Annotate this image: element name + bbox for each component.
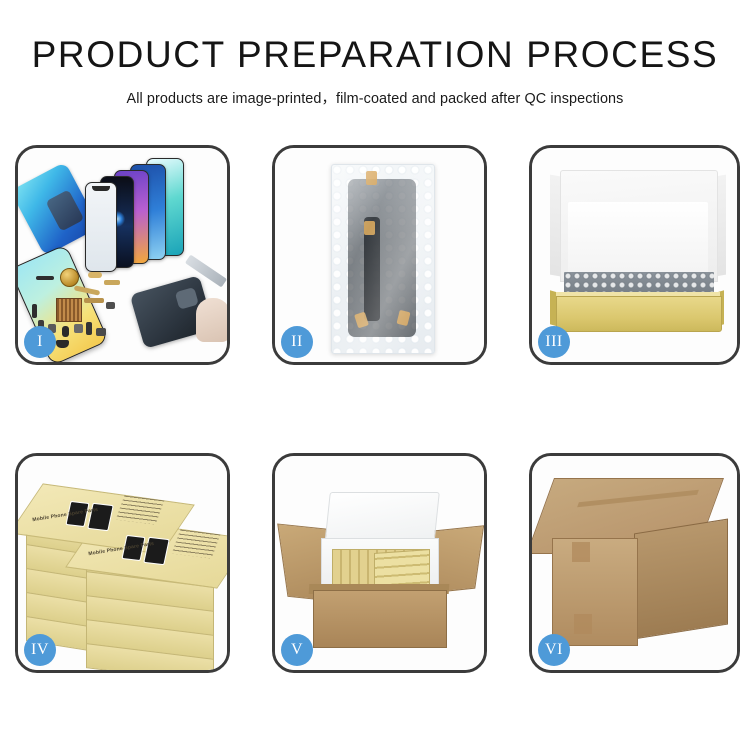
carton-right-face — [634, 519, 728, 640]
page-title: PRODUCT PREPARATION PROCESS — [0, 36, 750, 75]
step-panel-2[interactable]: II — [272, 145, 487, 365]
step-badge-5: V — [281, 634, 313, 666]
open-inner-box-icon — [550, 170, 726, 334]
carton-tape — [572, 542, 590, 562]
step-panel-3[interactable]: III — [529, 145, 740, 365]
step-panel-6[interactable]: VI — [529, 453, 740, 673]
page-header: PRODUCT PREPARATION PROCESS All products… — [0, 0, 750, 108]
step-badge-3: III — [538, 326, 570, 358]
spare-part-icon — [74, 324, 83, 333]
spare-part-icon — [56, 340, 69, 348]
foam-sheet-icon — [568, 202, 708, 278]
step-badge-2: II — [281, 326, 313, 358]
tape-icon — [364, 221, 375, 235]
page-subtitle: All products are image-printed，film-coat… — [0, 87, 750, 108]
spare-part-icon — [84, 298, 104, 303]
hand-icon — [196, 298, 227, 342]
open-carton-icon — [283, 478, 479, 654]
spare-part-icon — [62, 326, 69, 337]
bubble-wrap-bag-icon — [331, 164, 435, 354]
tape-icon — [366, 171, 377, 185]
spare-part-icon — [88, 272, 102, 278]
step-badge-1: I — [24, 326, 56, 358]
phone-screen-icon — [85, 182, 117, 272]
sealed-carton-icon — [548, 478, 730, 654]
process-step-grid: I II — [15, 145, 735, 673]
spare-part-icon — [96, 328, 106, 336]
step-panel-4[interactable]: Mobile Phone Spare Parts Mobile Phone Sp… — [15, 453, 230, 673]
step-badge-4: IV — [24, 634, 56, 666]
box-stack-icon: Mobile Phone Spare Parts Mobile Phone Sp… — [24, 482, 224, 658]
step-panel-5[interactable]: V — [272, 453, 487, 673]
carton-tape — [574, 614, 592, 634]
box-print-lines — [116, 496, 165, 525]
spare-part-icon — [36, 276, 54, 280]
spare-part-icon — [32, 304, 37, 318]
spare-part-icon — [106, 302, 115, 309]
spare-part-icon — [86, 322, 92, 335]
carton-left-face — [552, 538, 638, 646]
box-print-lines — [172, 530, 221, 559]
product-preparation-page: PRODUCT PREPARATION PROCESS All products… — [0, 0, 750, 750]
box-front-panel — [556, 296, 722, 332]
step-panel-1[interactable]: I — [15, 145, 230, 365]
chip-grid-icon — [56, 298, 82, 322]
step-badge-6: VI — [538, 634, 570, 666]
spare-part-icon — [104, 280, 120, 285]
carton-front-panel — [313, 590, 447, 648]
vibration-motor-icon — [60, 268, 79, 287]
